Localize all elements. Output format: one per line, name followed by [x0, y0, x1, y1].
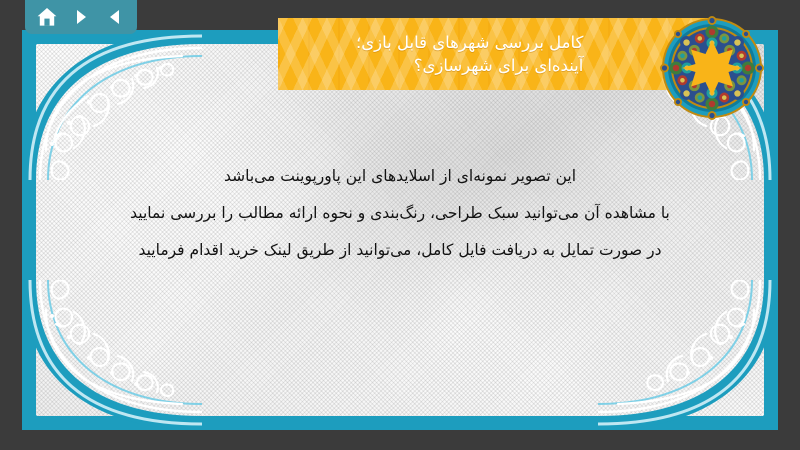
persian-ornament-medallion	[660, 16, 764, 120]
home-button[interactable]	[34, 4, 60, 30]
slide-body-text: این تصویر نمونه‌ای از اسلایدهای این پاور…	[62, 158, 738, 269]
body-line-3: در صورت تمایل به دریافت فایل کامل، می‌تو…	[62, 232, 738, 269]
slide-viewer: این تصویر نمونه‌ای از اسلایدهای این پاور…	[0, 0, 800, 450]
previous-button[interactable]	[102, 4, 128, 30]
next-button[interactable]	[68, 4, 94, 30]
slide-title-banner: کامل بررسی شهرهای قابل بازی؛ آینده‌ای بر…	[278, 18, 710, 90]
page-title: کامل بررسی شهرهای قابل بازی؛ آینده‌ای بر…	[356, 31, 583, 78]
triangle-left-icon	[105, 7, 125, 27]
slide-navigation-toolbar	[25, 0, 137, 34]
triangle-right-icon	[71, 7, 91, 27]
body-line-2: با مشاهده آن می‌توانید سبک طراحی، رنگ‌بن…	[62, 195, 738, 232]
body-line-1: این تصویر نمونه‌ای از اسلایدهای این پاور…	[62, 158, 738, 195]
home-icon	[36, 6, 58, 28]
